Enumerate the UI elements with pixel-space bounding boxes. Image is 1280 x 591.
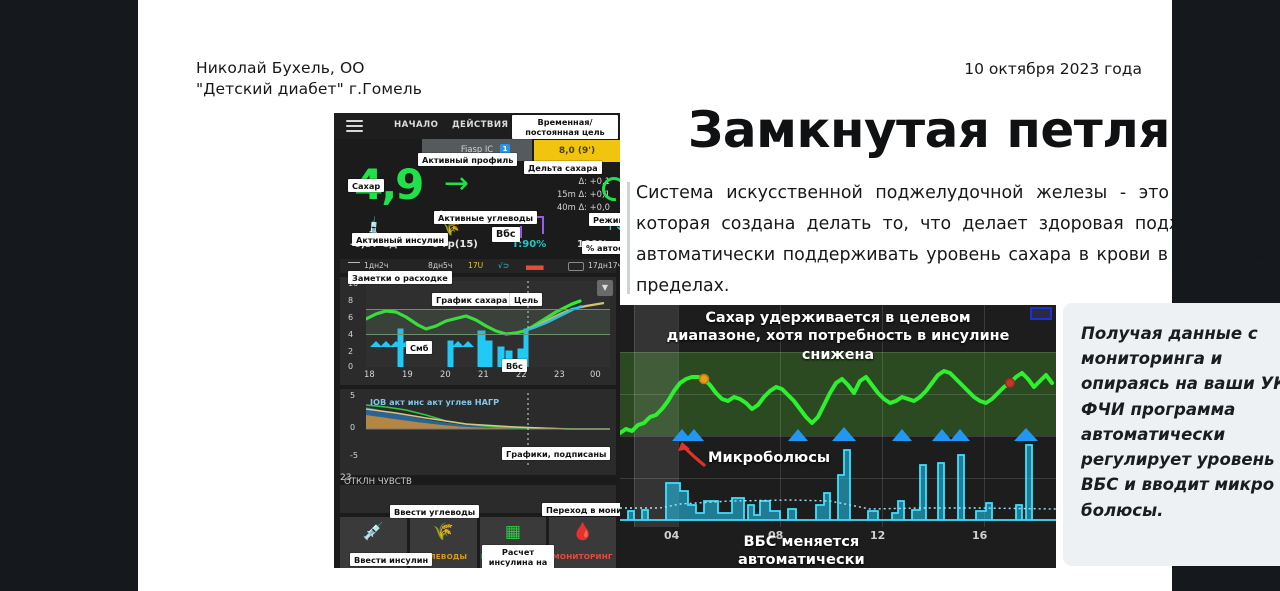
- phone-screenshot: НАЧАЛО ДЕЙСТВИЯ Fiasp IC 1 8,0 (9') 4,9 …: [334, 113, 620, 568]
- callout-vbs-chart: Вбс: [502, 359, 527, 372]
- sensor-icon: [348, 262, 360, 270]
- callout-notes: Заметки о расходке: [348, 271, 452, 284]
- status-reservoir: 17U: [468, 259, 483, 273]
- chart-collapse-button[interactable]: ▼: [597, 280, 613, 296]
- callout-mode: Режим ц: [589, 213, 620, 226]
- x-tick-16: 16: [972, 529, 987, 542]
- blood-drop-icon: 🩸: [549, 524, 616, 541]
- temp-target-value[interactable]: 8,0 (9'): [534, 140, 620, 162]
- iob-y-tick-neg5: -5: [350, 451, 358, 460]
- slide-body-text: Система искусственной поджелудочной желе…: [636, 178, 1280, 302]
- bg-y-tick-0: 0: [348, 362, 353, 371]
- bg-x-tick-18: 18: [364, 369, 375, 379]
- bg-target-band: [366, 309, 610, 335]
- author-block: Николай Бухель, ОО "Детский диабет" г.Го…: [196, 58, 596, 100]
- author-line-2: "Детский диабет" г.Гомель: [196, 79, 596, 100]
- callout-enter-insulin: Ввести инсулин: [350, 553, 432, 566]
- bg-x-tick-23: 23: [554, 369, 565, 379]
- author-line-1: Николай Бухель, ОО: [196, 58, 596, 79]
- smb-triangles: [672, 427, 1038, 441]
- bg-trend-arrow-icon: →: [444, 169, 469, 199]
- callout-active-carbs: Активные углеводы: [434, 211, 537, 224]
- callout-vbs: Вбс: [492, 227, 520, 242]
- delta-block: Δ: +0,1 15m Δ: +0,1 40m Δ: +0,0: [524, 175, 610, 214]
- action-monitoring-label: МОНИТОРИНГ: [549, 552, 616, 561]
- side-note-card: Получая данные с мониторинга и опираясь …: [1063, 303, 1280, 566]
- tab-home[interactable]: НАЧАЛО: [394, 120, 438, 130]
- callout-charts-signed: Графики, подписаны: [502, 447, 610, 460]
- iob-y-tick-5: 5: [350, 391, 355, 400]
- iob-cob-chart[interactable]: 5 0 -5 IOB акт инс акт углев НАГР: [340, 389, 616, 475]
- callout-enter-carbs: Ввести углеводы: [390, 505, 479, 518]
- iob-chart-legend: IOB акт инс акт углев НАГР: [370, 397, 499, 407]
- syringe-icon: 💉: [340, 524, 407, 541]
- delta-15m: 15m Δ: +0,1: [524, 188, 610, 201]
- presentation-date: 10 октября 2023 года: [964, 60, 1142, 78]
- callout-sugar-chart: График сахара: [432, 293, 511, 306]
- calculator-icon: ▦: [480, 524, 547, 541]
- callout-temp-target: Временная/постоянная цель: [512, 115, 618, 139]
- bg-y-tick-2: 2: [348, 347, 353, 356]
- chart-title: Сахар удерживается в целевом диапазоне, …: [658, 309, 1018, 364]
- annotation-basal-auto: ВБС меняетсяавтоматически: [738, 533, 865, 568]
- callout-to-monitoring: Переход в мониторинг: [542, 503, 620, 516]
- bg-x-tick-00: 00: [590, 369, 601, 379]
- slide-canvas: Николай Бухель, ОО "Детский диабет" г.Го…: [0, 0, 1280, 591]
- callout-sugar: Сахар: [348, 179, 384, 192]
- bg-x-tick-21: 21: [478, 369, 489, 379]
- letterbox-left: [0, 0, 138, 591]
- paragraph-accent-bar: [627, 182, 630, 294]
- status-extra-icon: √⊃: [498, 259, 509, 273]
- bg-y-tick-4: 4: [348, 330, 353, 339]
- callout-goal: Цель: [510, 293, 542, 306]
- callout-active-insulin: Активный инсулин: [352, 233, 448, 246]
- hamburger-icon[interactable]: [346, 120, 363, 132]
- slide-background: Николай Бухель, ОО "Детский диабет" г.Го…: [138, 0, 1172, 591]
- callout-autosens-pct: % автосе: [582, 241, 620, 254]
- x-tick-04: 04: [664, 529, 679, 542]
- daily-loop-chart[interactable]: 04 08 12 16 Сахар удерживается в целевом…: [620, 305, 1056, 568]
- action-monitoring[interactable]: 🩸 МОНИТОРИНГ: [549, 517, 616, 568]
- tab-actions[interactable]: ДЕЙСТВИЯ: [452, 120, 508, 130]
- delta-now: Δ: +0,1: [524, 175, 610, 188]
- callout-delta-sugar: Дельта сахара: [524, 161, 602, 174]
- page-title: Замкнутая петля: [670, 104, 1170, 157]
- x-tick-12: 12: [870, 529, 885, 542]
- status-alert: ▄▄▄: [526, 259, 544, 273]
- status-pump: 17дн17ч: [588, 259, 620, 273]
- callout-carb-calc: Расчет инсулина на углеводы: [482, 545, 554, 568]
- battery-icon: [568, 262, 584, 271]
- bg-x-tick-20: 20: [440, 369, 451, 379]
- bg-y-tick-8: 8: [348, 296, 353, 305]
- chart-selection-badge[interactable]: [1030, 307, 1052, 320]
- callout-active-profile: Активный профиль: [418, 153, 517, 166]
- iob-y-tick-0: 0: [350, 423, 355, 432]
- bg-x-tick-19: 19: [402, 369, 413, 379]
- annotation-microbolus: Микроболюсы: [708, 449, 830, 467]
- callout-smb: Смб: [406, 341, 432, 354]
- wheat-icon: 🌾: [410, 524, 477, 541]
- bg-y-tick-6: 6: [348, 313, 353, 322]
